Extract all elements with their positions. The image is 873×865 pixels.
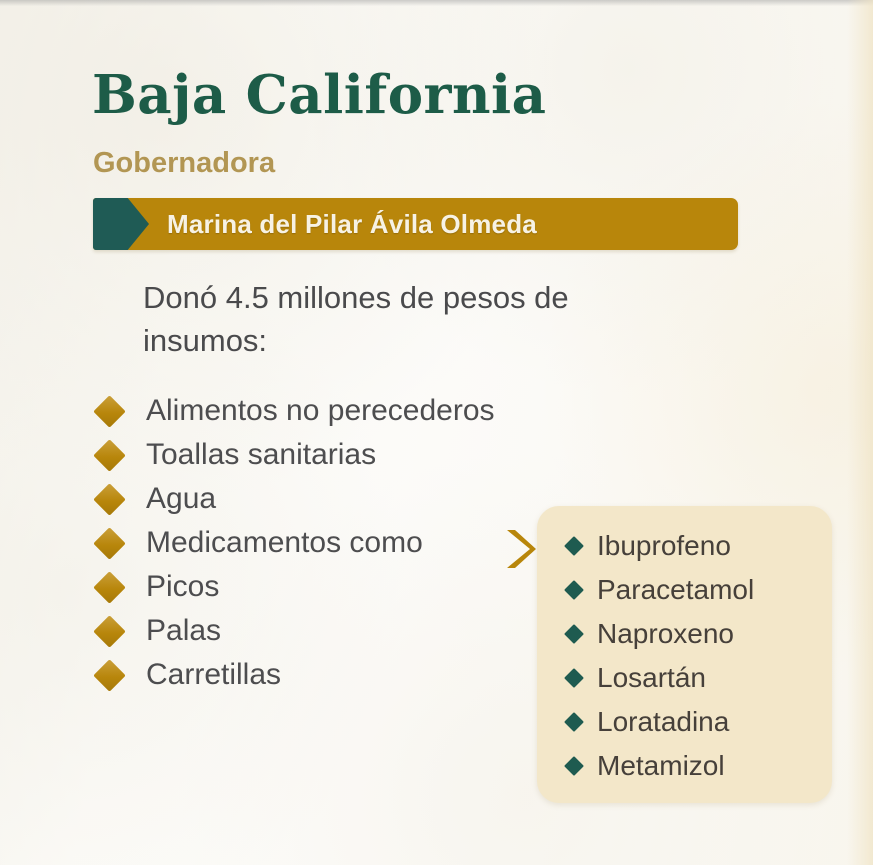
diamond-bullet-icon	[93, 527, 126, 560]
supply-label: Medicamentos como	[146, 528, 423, 558]
donation-statement: Donó 4.5 millones de pesos de insumos:	[143, 276, 663, 363]
diamond-bullet-icon	[93, 615, 126, 648]
diamond-bullet-icon	[93, 571, 126, 604]
role-label: Gobernadora	[93, 148, 275, 180]
supply-label: Palas	[146, 616, 221, 646]
list-item: Losartán	[559, 656, 754, 700]
list-item: Ibuprofeno	[559, 524, 754, 568]
diamond-bullet-icon	[564, 624, 584, 644]
list-item: Metamizol	[559, 744, 754, 788]
medicine-label: Naproxeno	[597, 620, 734, 648]
medicine-label: Metamizol	[597, 752, 725, 780]
diamond-bullet-icon	[93, 659, 126, 692]
list-item: Agua	[92, 477, 562, 521]
medicine-label: Paracetamol	[597, 576, 754, 604]
governor-name: Marina del Pilar Ávila Olmeda	[167, 198, 537, 250]
supply-label: Agua	[146, 484, 216, 514]
arrow-right-pentagon-icon	[93, 198, 149, 250]
supply-label: Alimentos no perecederos	[146, 396, 495, 426]
infographic-canvas: Baja California Gobernadora Marina del P…	[0, 0, 873, 865]
governor-name-banner: Marina del Pilar Ávila Olmeda	[93, 198, 738, 250]
list-item: Toallas sanitarias	[92, 433, 562, 477]
right-edge-band	[847, 0, 873, 865]
diamond-bullet-icon	[93, 483, 126, 516]
supplies-list: Alimentos no perecederos Toallas sanitar…	[92, 389, 562, 697]
diamond-bullet-icon	[564, 536, 584, 556]
diamond-bullet-icon	[564, 580, 584, 600]
supply-label: Carretillas	[146, 660, 281, 690]
supply-label: Toallas sanitarias	[146, 440, 376, 470]
medicines-list: Ibuprofeno Paracetamol Naproxeno Losartá…	[559, 524, 754, 788]
list-item: Carretillas	[92, 653, 562, 697]
medicine-label: Loratadina	[597, 708, 729, 736]
list-item: Picos	[92, 565, 562, 609]
diamond-bullet-icon	[93, 439, 126, 472]
list-item: Loratadina	[559, 700, 754, 744]
diamond-bullet-icon	[93, 395, 126, 428]
page-title: Baja California	[92, 68, 546, 124]
supply-label: Picos	[146, 572, 219, 602]
top-edge-band	[0, 0, 873, 6]
list-item: Paracetamol	[559, 568, 754, 612]
medicine-label: Ibuprofeno	[597, 532, 731, 560]
list-item: Palas	[92, 609, 562, 653]
diamond-bullet-icon	[564, 712, 584, 732]
chevron-right-icon	[503, 527, 537, 571]
list-item: Naproxeno	[559, 612, 754, 656]
medicine-label: Losartán	[597, 664, 706, 692]
list-item: Alimentos no perecederos	[92, 389, 562, 433]
medicines-panel: Ibuprofeno Paracetamol Naproxeno Losartá…	[537, 506, 832, 803]
diamond-bullet-icon	[564, 668, 584, 688]
diamond-bullet-icon	[564, 756, 584, 776]
list-item-medicamentos: Medicamentos como	[92, 521, 562, 565]
